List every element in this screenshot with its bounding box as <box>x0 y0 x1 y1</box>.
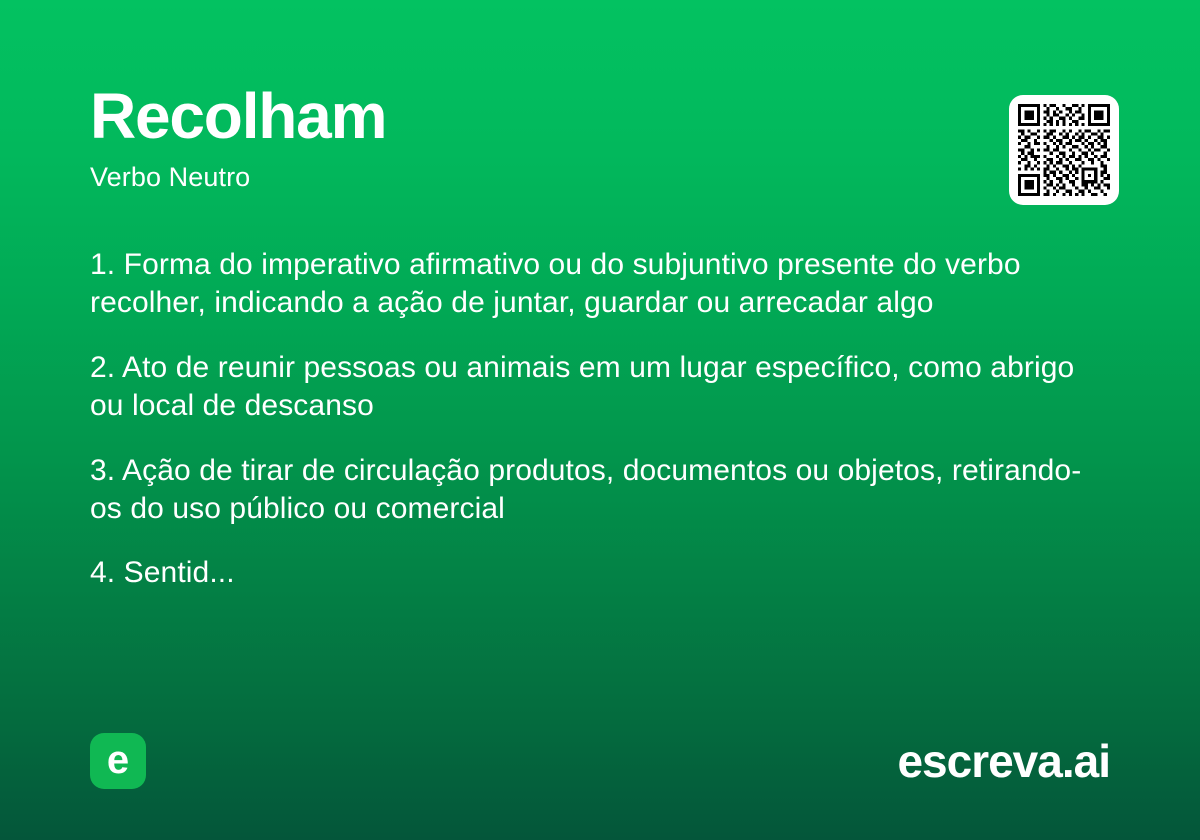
definitions-list: 1. Forma do imperativo afirmativo ou do … <box>90 246 1112 593</box>
logo-letter: e <box>107 740 129 780</box>
definition-item: 3. Ação de tirar de circulação produtos,… <box>90 452 1112 529</box>
brand-wordmark: escreva.ai <box>897 734 1110 788</box>
qr-code[interactable] <box>1009 95 1119 205</box>
definition-item: 1. Forma do imperativo afirmativo ou do … <box>90 246 1112 323</box>
word-class-subtitle: Verbo Neutro <box>90 162 1110 193</box>
escreva-logo-icon: e <box>90 733 146 789</box>
card-header: Recolham Verbo Neutro <box>90 84 1110 193</box>
card-footer: e escreva.ai <box>90 732 1110 790</box>
definition-card: Recolham Verbo Neutro <box>0 0 1200 840</box>
definition-item-truncated: 4. Sentid... <box>90 554 1112 592</box>
page-title: Recolham <box>90 84 1110 148</box>
qr-code-icon <box>1018 104 1110 196</box>
definition-item: 2. Ato de reunir pessoas ou animais em u… <box>90 349 1112 426</box>
